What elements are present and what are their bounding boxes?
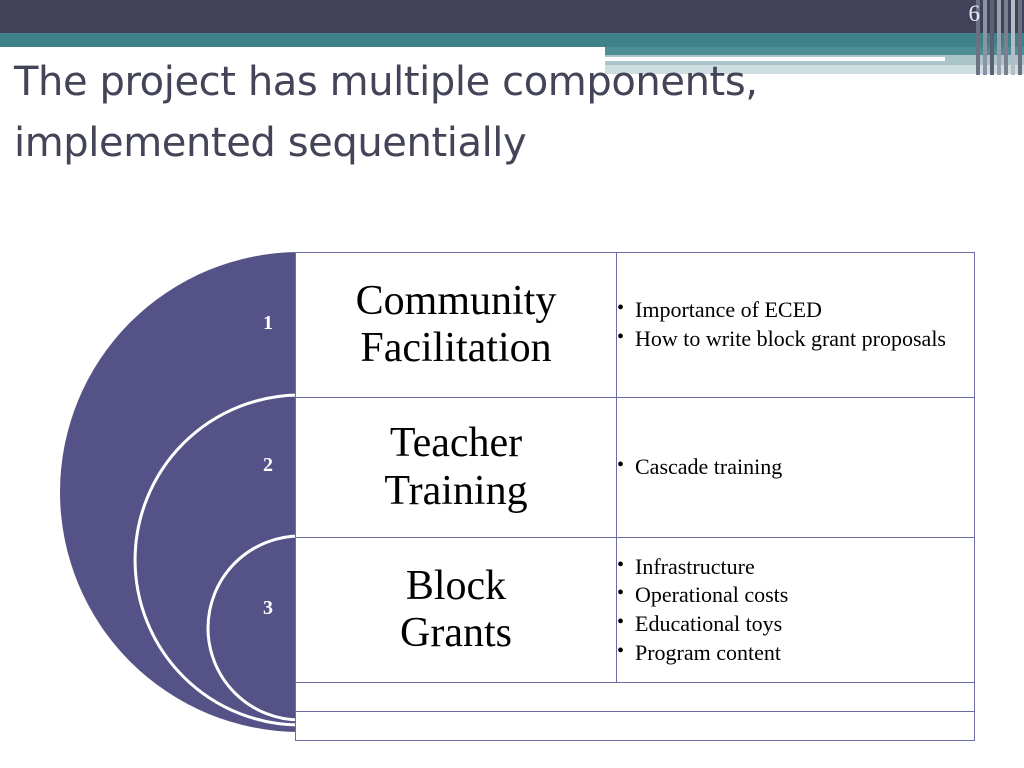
stage-row: Block GrantsInfrastructureOperational co… [296, 538, 975, 683]
decorative-stripes [976, 0, 1024, 75]
decorative-stripe-3 [990, 0, 994, 75]
header-bar [0, 0, 1024, 33]
stage-name: Community Facilitation [296, 253, 617, 398]
bullet-item: How to write block grant proposals [617, 325, 974, 354]
empty-cell [296, 683, 975, 712]
stage-name: Teacher Training [296, 398, 617, 538]
decorative-stripe-4 [997, 0, 1001, 75]
empty-row [296, 712, 975, 741]
stage-number-1: 1 [253, 312, 283, 335]
bullet-list: Importance of ECEDHow to write block gra… [617, 296, 974, 353]
decorative-stripe-2 [983, 0, 987, 75]
teal-accent-band [0, 33, 1024, 47]
stage-bullets: Cascade training [617, 398, 975, 538]
stage-bullets: Importance of ECEDHow to write block gra… [617, 253, 975, 398]
bullet-item: Cascade training [617, 453, 974, 482]
bullet-item: Educational toys [617, 610, 974, 639]
page-number: 6 [969, 2, 981, 25]
stage-row: Teacher TrainingCascade training [296, 398, 975, 538]
stages-table-body: Community FacilitationImportance of ECED… [296, 253, 975, 741]
page-title: The project has multiple components, imp… [14, 52, 914, 174]
stage-number-2: 2 [253, 454, 283, 477]
stage-number-3: 3 [253, 597, 283, 620]
decorative-stripe-5 [1004, 0, 1008, 75]
empty-cell [296, 712, 975, 741]
components-diagram: 1 2 3 Community FacilitationImportance o… [0, 240, 1024, 750]
stage-row: Community FacilitationImportance of ECED… [296, 253, 975, 398]
stage-name: Block Grants [296, 538, 617, 683]
bullet-item: Operational costs [617, 581, 974, 610]
decorative-stripe-6 [1011, 0, 1015, 75]
bullet-item: Infrastructure [617, 553, 974, 582]
bullet-item: Importance of ECED [617, 296, 974, 325]
stage-bullets: InfrastructureOperational costsEducation… [617, 538, 975, 683]
bullet-item: Program content [617, 639, 974, 668]
decorative-stripe-7 [1018, 0, 1022, 75]
bullet-list: Cascade training [617, 453, 974, 482]
stages-table: Community FacilitationImportance of ECED… [295, 252, 975, 741]
bullet-list: InfrastructureOperational costsEducation… [617, 553, 974, 667]
empty-row [296, 683, 975, 712]
